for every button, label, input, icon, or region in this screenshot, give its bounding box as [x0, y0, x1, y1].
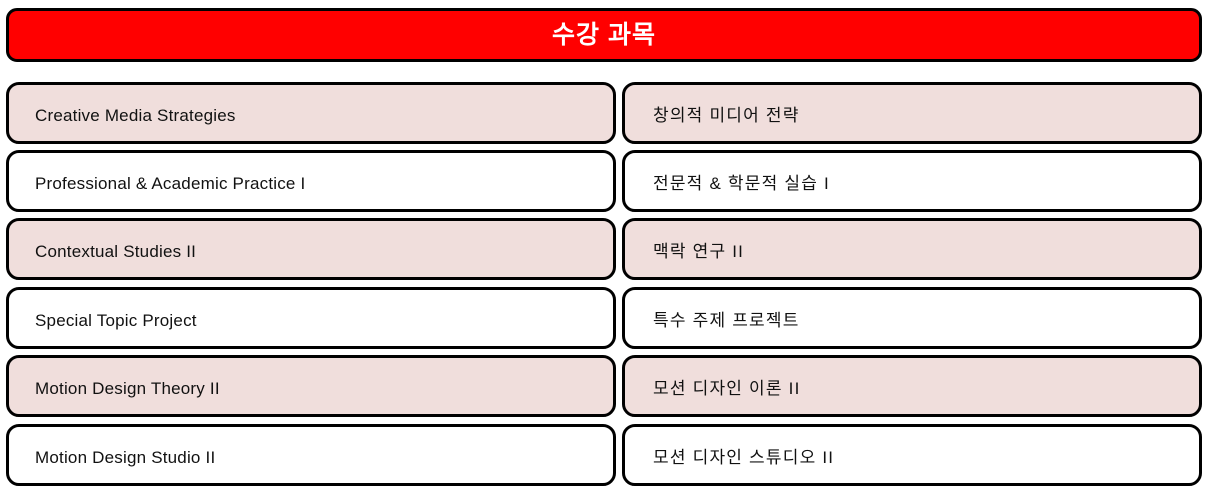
course-cell-english[interactable]: Creative Media Strategies [6, 82, 616, 144]
course-cell-korean[interactable]: 모션 디자인 스튜디오 II [622, 424, 1202, 486]
course-cell-korean[interactable]: 특수 주제 프로젝트 [622, 287, 1202, 349]
table-row: Motion Design Studio II 모션 디자인 스튜디오 II [0, 424, 1208, 486]
course-cell-english[interactable]: Contextual Studies II [6, 218, 616, 280]
course-cell-english[interactable]: Professional & Academic Practice I [6, 150, 616, 212]
course-name-english: Professional & Academic Practice I [35, 175, 305, 194]
course-name-korean: 창의적 미디어 전략 [653, 107, 800, 126]
course-name-korean: 모션 디자인 이론 II [653, 380, 801, 399]
course-cell-korean[interactable]: 모션 디자인 이론 II [622, 355, 1202, 417]
course-name-english: Motion Design Theory II [35, 380, 220, 399]
table-row: Creative Media Strategies 창의적 미디어 전략 [0, 82, 1208, 144]
table-row: Professional & Academic Practice I 전문적 &… [0, 150, 1208, 212]
course-cell-english[interactable]: Motion Design Theory II [6, 355, 616, 417]
page-title: 수강 과목 [552, 23, 656, 48]
table-row: Motion Design Theory II 모션 디자인 이론 II [0, 355, 1208, 417]
table-row: Contextual Studies II 맥락 연구 II [0, 218, 1208, 280]
course-name-english: Contextual Studies II [35, 243, 196, 262]
course-name-korean: 맥락 연구 II [653, 243, 744, 262]
course-cell-korean[interactable]: 맥락 연구 II [622, 218, 1202, 280]
course-name-korean: 특수 주제 프로젝트 [653, 312, 800, 331]
course-name-korean: 전문적 & 학문적 실습 I [653, 175, 830, 194]
course-cell-english[interactable]: Motion Design Studio II [6, 424, 616, 486]
course-name-english: Motion Design Studio II [35, 449, 215, 468]
course-name-english: Creative Media Strategies [35, 107, 236, 126]
table-row: Special Topic Project 특수 주제 프로젝트 [0, 287, 1208, 349]
course-cell-english[interactable]: Special Topic Project [6, 287, 616, 349]
course-name-korean: 모션 디자인 스튜디오 II [653, 449, 834, 468]
course-cell-korean[interactable]: 전문적 & 학문적 실습 I [622, 150, 1202, 212]
course-cell-korean[interactable]: 창의적 미디어 전략 [622, 82, 1202, 144]
page-title-banner: 수강 과목 [6, 8, 1202, 62]
course-rows: Creative Media Strategies 창의적 미디어 전략 Pro… [0, 82, 1208, 492]
course-table: 수강 과목 Creative Media Strategies 창의적 미디어 … [0, 0, 1208, 492]
course-name-english: Special Topic Project [35, 312, 197, 331]
